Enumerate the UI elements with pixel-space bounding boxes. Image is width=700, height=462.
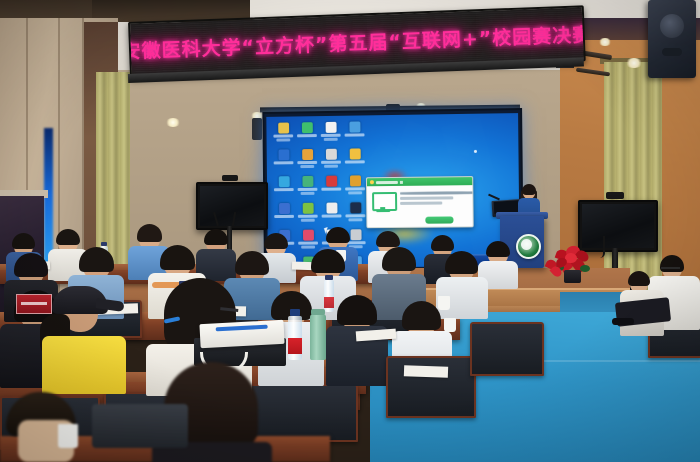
desktop-icon[interactable] xyxy=(295,122,319,147)
water-bottle xyxy=(288,316,302,360)
screen-side-speaker xyxy=(252,118,262,140)
desktop-icon[interactable] xyxy=(296,203,320,228)
name-card xyxy=(16,294,52,314)
desktop-icon[interactable] xyxy=(320,202,344,227)
close-icon[interactable] xyxy=(400,180,403,183)
desktop-icon[interactable] xyxy=(343,148,367,173)
paper-document xyxy=(404,365,448,378)
conference-hall-photo: 安徽医科大学“立方杯”第五届“互联网+”校园赛决赛 xyxy=(0,0,700,462)
speaker-cone-icon xyxy=(660,14,684,38)
desktop-icon[interactable] xyxy=(319,149,343,174)
paper-cup xyxy=(444,318,456,332)
dialog-heading-line xyxy=(400,191,474,195)
ceiling-downlight xyxy=(165,118,181,127)
camera-left xyxy=(222,175,238,181)
camera-right xyxy=(606,192,624,199)
ceiling-downlight xyxy=(625,58,643,68)
desktop-icon[interactable] xyxy=(295,149,319,174)
tv-right-cable xyxy=(600,236,605,258)
dialog-text-line xyxy=(400,196,453,200)
dialog-primary-button[interactable] xyxy=(425,216,453,223)
screen-artifact xyxy=(474,150,477,153)
dialog-title-text xyxy=(376,180,398,183)
paper-cup-foreground xyxy=(58,424,78,448)
security-software-dialog[interactable] xyxy=(366,176,474,228)
desktop-icon[interactable] xyxy=(343,202,367,227)
desktop-icon[interactable] xyxy=(342,121,366,146)
green-thermos xyxy=(310,314,326,360)
poinsettia-flowers xyxy=(544,258,572,284)
bag-foreground xyxy=(92,404,188,448)
desktop-icon[interactable] xyxy=(271,122,295,147)
desktop-icon[interactable] xyxy=(272,149,296,174)
desktop-icon[interactable] xyxy=(343,175,367,200)
dialog-body xyxy=(367,185,473,215)
desktop-icon[interactable] xyxy=(319,122,343,147)
tv-monitor-right xyxy=(578,200,658,252)
desktop-icon[interactable] xyxy=(272,203,296,228)
laptop-white xyxy=(199,320,284,348)
app-logo-icon xyxy=(370,180,374,184)
desktop-icon[interactable] xyxy=(272,176,296,201)
attendee xyxy=(326,300,388,386)
ceiling-speaker xyxy=(648,0,696,78)
speaker-port xyxy=(662,48,682,56)
emblem-inner xyxy=(521,239,532,250)
desktop-icon[interactable] xyxy=(296,230,320,255)
eyeglasses-icon xyxy=(661,267,680,273)
desktop-icon[interactable] xyxy=(296,176,320,201)
dialog-message-lines xyxy=(400,190,469,212)
led-banner-text: 安徽医科大学“立方杯”第五届“互联网+”校园赛决赛 xyxy=(128,20,586,64)
chair xyxy=(470,322,544,376)
desktop-icon[interactable] xyxy=(319,176,343,201)
attendee-foreground xyxy=(0,392,96,462)
monitor-icon xyxy=(371,191,395,212)
ceiling-downlight xyxy=(598,38,612,46)
dialog-text-line xyxy=(400,202,442,205)
guest-shoe xyxy=(612,318,634,325)
